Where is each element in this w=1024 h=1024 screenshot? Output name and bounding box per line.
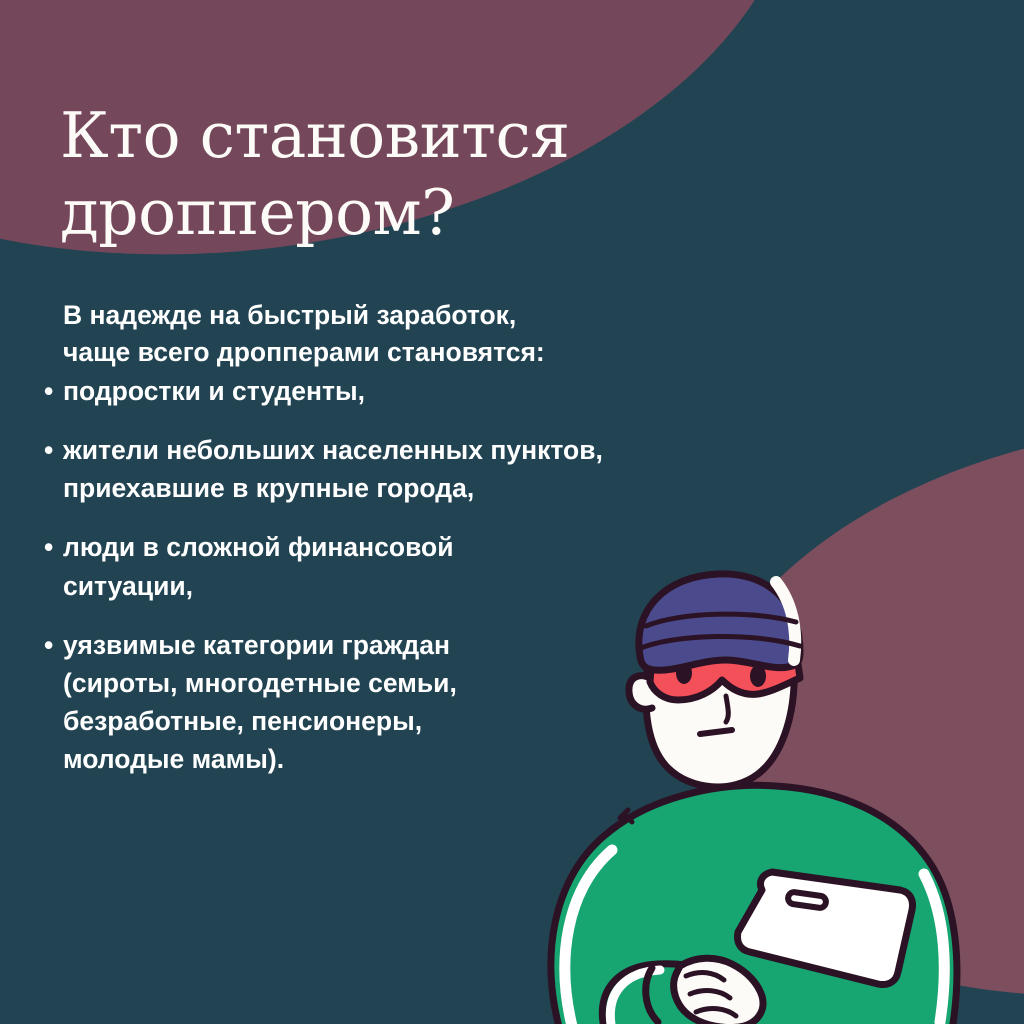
page-title: Кто становится дроппером?: [60, 98, 780, 252]
bullet-marker-icon: •: [44, 372, 63, 410]
mouth: [700, 730, 732, 734]
nose: [726, 696, 728, 722]
bullet-marker-icon: •: [44, 626, 63, 664]
illustration-hooded-scammer-with-phone: [500, 560, 1024, 1024]
bullet-marker-icon: •: [44, 528, 63, 566]
poster-canvas: Кто становится дроппером? В надежде на б…: [0, 0, 1024, 1024]
intro-paragraph: В надежде на быстрый заработок, чаще все…: [63, 297, 763, 372]
list-item: • подростки и студенты,: [44, 372, 784, 410]
list-item-label: подростки и студенты,: [63, 372, 784, 410]
list-item: • жители небольших населенных пунктов, п…: [44, 431, 784, 507]
list-item-label: жители небольших населенных пунктов, при…: [63, 431, 784, 507]
bullet-marker-icon: •: [44, 431, 63, 469]
phone-speaker-slot: [787, 891, 826, 908]
